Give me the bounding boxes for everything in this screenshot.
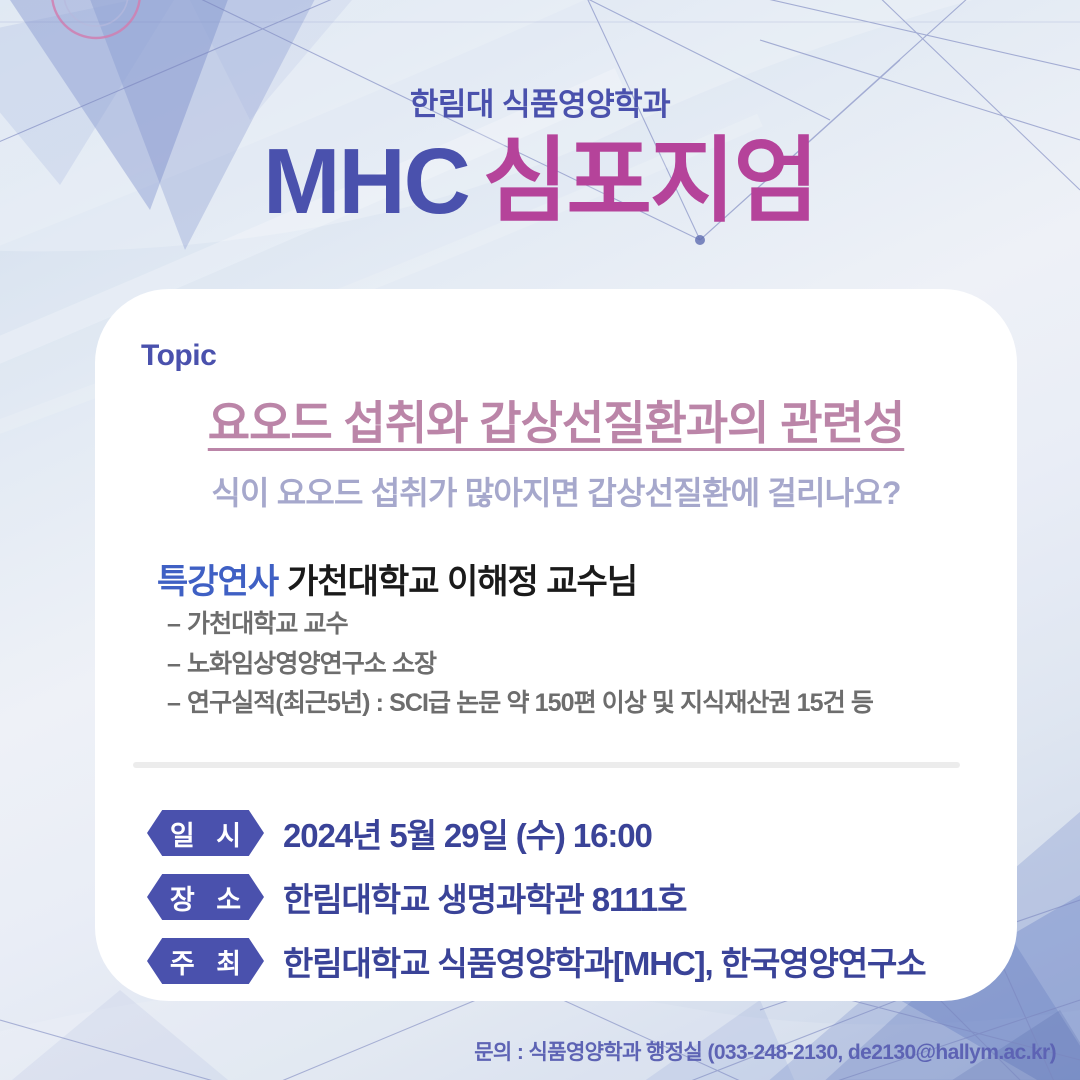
badge-datetime: 일 시	[147, 810, 264, 856]
footer-contact: 문의 : 식품영양학과 행정실 (033-248-2130, de2130@ha…	[474, 1036, 1056, 1066]
topic-label: Topic	[141, 339, 216, 373]
list-item: 가천대학교 교수	[167, 605, 873, 645]
badge-location: 장 소	[147, 874, 264, 920]
speaker-tag: 특강연사	[157, 563, 278, 601]
info-row-list: 일 시 2024년 5월 29일 (수) 16:00 장 소 한림대학교 생명과…	[147, 801, 1007, 993]
speaker-line: 특강연사가천대학교 이해정 교수님	[157, 554, 637, 603]
title-korean: 심포지엄	[483, 129, 817, 233]
section-divider	[133, 762, 960, 768]
poster-canvas: 한림대 식품영양학과 MHC심포지엄 Topic 요오드 섭취와 갑상선질환과의…	[0, 0, 1080, 1080]
info-row-location: 장 소 한림대학교 생명과학관 8111호	[147, 865, 1007, 929]
topic-title: 요오드 섭취와 갑상선질환과의 관련성	[95, 387, 1017, 453]
credential-list: 가천대학교 교수 노화임상영양연구소 소장 연구실적(최근5년) : SCI급 …	[167, 605, 873, 724]
topic-subtitle: 식이 요오드 섭취가 많아지면 갑상선질환에 걸리나요?	[95, 468, 1017, 514]
list-item: 연구실적(최근5년) : SCI급 논문 약 150편 이상 및 지식재산권 1…	[167, 684, 873, 724]
info-row-host: 주 최 한림대학교 식품영양학과[MHC], 한국영양연구소	[147, 929, 1007, 993]
title-english: MHC	[263, 129, 469, 233]
info-row-datetime: 일 시 2024년 5월 29일 (수) 16:00	[147, 801, 1007, 865]
info-value-location: 한림대학교 생명과학관 8111호	[283, 873, 686, 921]
badge-host: 주 최	[147, 938, 264, 984]
info-value-host: 한림대학교 식품영양학과[MHC], 한국영양연구소	[283, 937, 926, 985]
list-item: 노화임상영양연구소 소장	[167, 645, 873, 685]
page-title: MHC심포지엄	[0, 131, 1080, 231]
speaker-name: 가천대학교 이해정 교수님	[287, 563, 637, 601]
poster-header: 한림대 식품영양학과 MHC심포지엄	[0, 86, 1080, 231]
card-content: Topic 요오드 섭취와 갑상선질환과의 관련성 식이 요오드 섭취가 많아지…	[95, 289, 1017, 1001]
department-line: 한림대 식품영양학과	[0, 86, 1080, 125]
info-value-datetime: 2024년 5월 29일 (수) 16:00	[283, 809, 652, 857]
